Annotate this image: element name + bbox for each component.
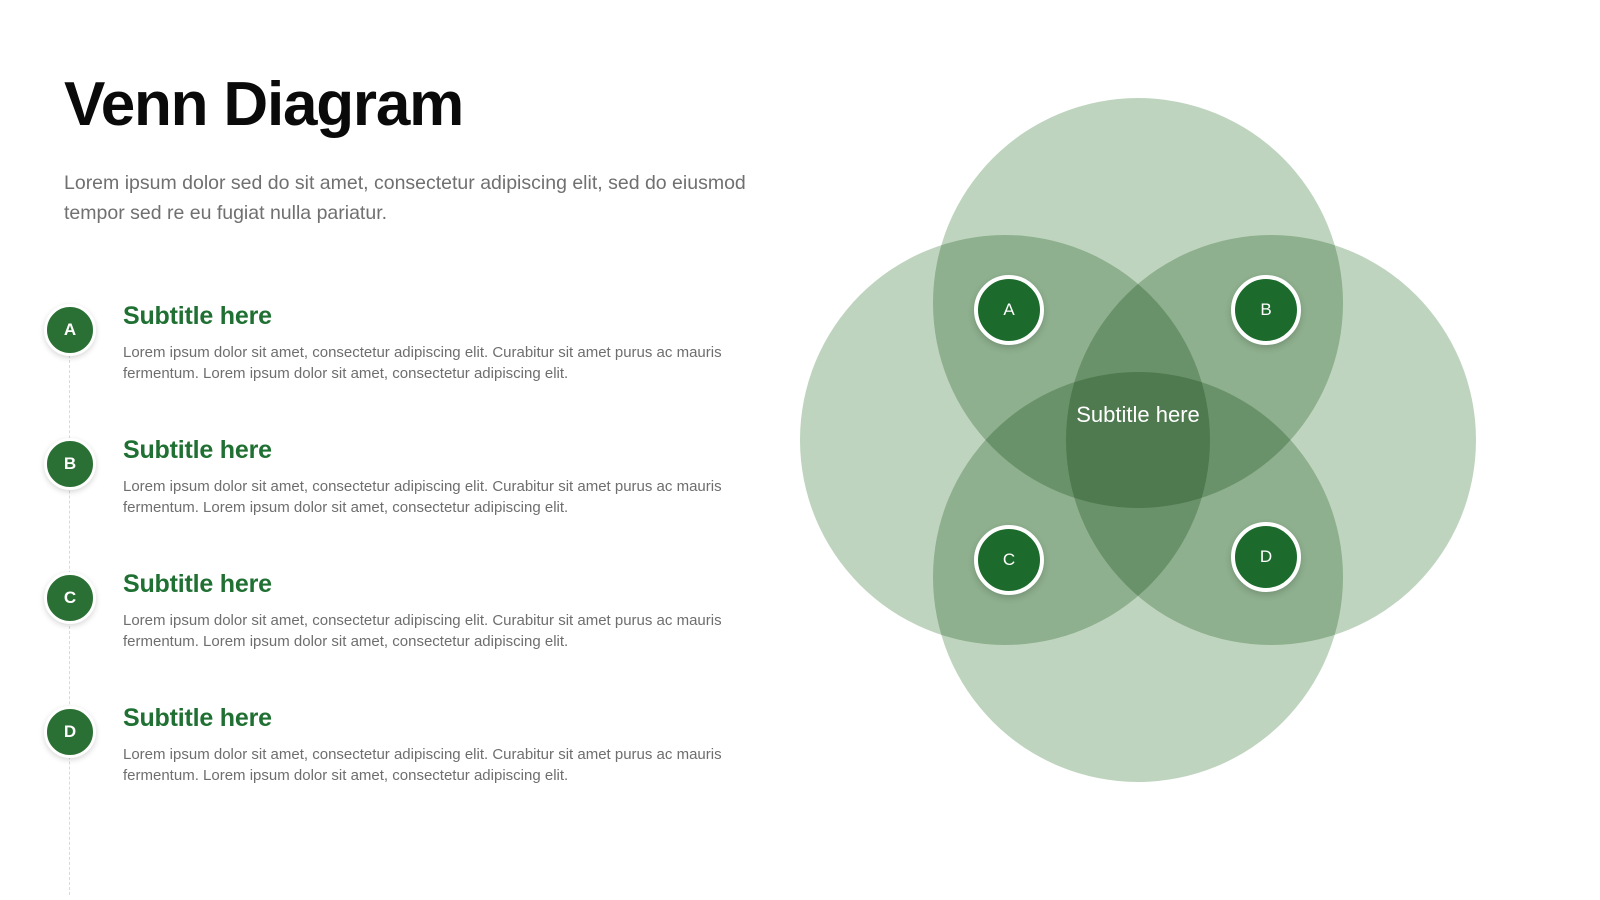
list-item-body: Subtitle here Lorem ipsum dolor sit amet…	[123, 704, 743, 786]
list-item-body: Subtitle here Lorem ipsum dolor sit amet…	[123, 436, 743, 518]
venn-diagram: A B C D Subtitle here	[800, 98, 1476, 782]
venn-center-label: Subtitle here	[1056, 401, 1220, 428]
list-item-text: Lorem ipsum dolor sit amet, consectetur …	[123, 476, 733, 518]
list-item-body: Subtitle here Lorem ipsum dolor sit amet…	[123, 302, 743, 384]
list-item-badge-b: B	[44, 438, 96, 490]
list-item-badge-c: C	[44, 572, 96, 624]
list-item-heading: Subtitle here	[123, 704, 743, 733]
list-item-badge-d: D	[44, 706, 96, 758]
slide-canvas: Venn Diagram Lorem ipsum dolor sed do si…	[0, 0, 1600, 900]
list-item-body: Subtitle here Lorem ipsum dolor sit amet…	[123, 570, 743, 652]
list-item-badge-a: A	[44, 304, 96, 356]
page-title: Venn Diagram	[64, 72, 463, 137]
venn-badge-d[interactable]: D	[1231, 522, 1301, 592]
left-content-panel: Venn Diagram Lorem ipsum dolor sed do si…	[0, 0, 800, 900]
venn-badge-c[interactable]: C	[974, 525, 1044, 595]
page-subtitle: Lorem ipsum dolor sed do sit amet, conse…	[64, 168, 794, 228]
list-item-heading: Subtitle here	[123, 302, 743, 331]
venn-badge-b[interactable]: B	[1231, 275, 1301, 345]
list-item-text: Lorem ipsum dolor sit amet, consectetur …	[123, 342, 733, 384]
list-item[interactable]: A Subtitle here Lorem ipsum dolor sit am…	[0, 302, 800, 436]
list-item-text: Lorem ipsum dolor sit amet, consectetur …	[123, 610, 733, 652]
items-list: A Subtitle here Lorem ipsum dolor sit am…	[0, 302, 800, 838]
list-item[interactable]: B Subtitle here Lorem ipsum dolor sit am…	[0, 436, 800, 570]
venn-badge-a[interactable]: A	[974, 275, 1044, 345]
list-item[interactable]: D Subtitle here Lorem ipsum dolor sit am…	[0, 704, 800, 838]
list-item-heading: Subtitle here	[123, 570, 743, 599]
list-item[interactable]: C Subtitle here Lorem ipsum dolor sit am…	[0, 570, 800, 704]
list-item-heading: Subtitle here	[123, 436, 743, 465]
list-item-text: Lorem ipsum dolor sit amet, consectetur …	[123, 744, 733, 786]
